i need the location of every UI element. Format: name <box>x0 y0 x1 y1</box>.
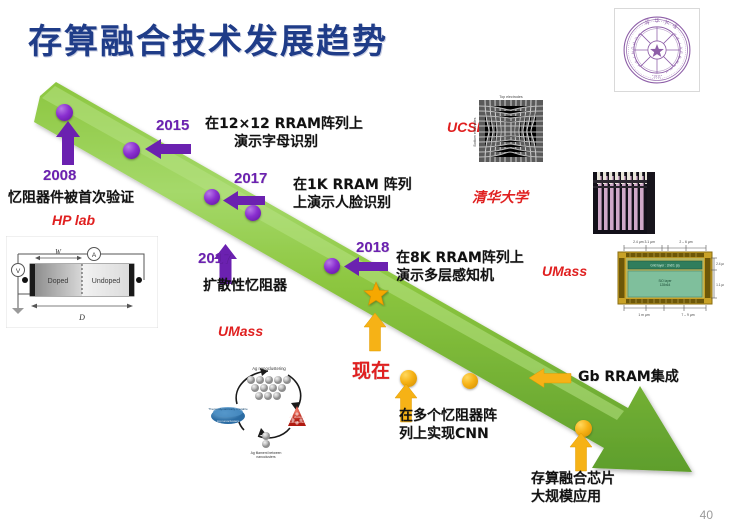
milestone-desc-mass-line2: 大规模应用 <box>531 489 601 506</box>
svg-text:2 – 6 µm: 2 – 6 µm <box>679 240 692 244</box>
svg-text:I: I <box>632 56 636 58</box>
svg-text:128x64: 128x64 <box>660 283 671 287</box>
pointer-arrow-left-2015 <box>144 138 192 160</box>
milestone-desc-2015-line1: 在12×12 RRAM阵列上 <box>205 116 363 133</box>
timeline-node-2018[interactable] <box>324 258 340 274</box>
svg-text:1.1 µm: 1.1 µm <box>716 283 724 287</box>
umass-label-right: Ag clusters <box>289 415 305 419</box>
ucsb-sem-crossbar: Top electrodes Bottom electrodes <box>471 92 549 170</box>
pointer-arrow-up-mass-application <box>569 432 593 472</box>
svg-text:E: E <box>679 51 683 54</box>
svg-text:R: R <box>677 56 682 60</box>
svg-text:Ag nanoclusters: Ag nanoclusters <box>217 419 240 423</box>
page-number: 40 <box>700 508 713 522</box>
milestone-year-2015: 2015 <box>156 117 189 134</box>
hp-label-d: D <box>78 313 85 322</box>
hp-label-v: V <box>16 268 21 275</box>
svg-text:2.4 µm 3.1 µm: 2.4 µm 3.1 µm <box>633 240 655 244</box>
pointer-arrow-up-2008 <box>55 120 81 166</box>
umass-label-left: Thermodynamically unstable <box>208 407 248 411</box>
svg-text:Grid layer : 2nd/1 (a): Grid layer : 2nd/1 (a) <box>650 264 679 268</box>
milestone-desc-2017a-line1: 在1K RRAM 阵列 <box>293 177 412 194</box>
milestone-desc-2017a-line2: 上演示人脸识别 <box>293 195 391 212</box>
milestone-desc-mass-line1: 存算融合芯片 <box>531 471 615 488</box>
svg-text:1 m µm: 1 m µm <box>638 313 650 317</box>
milestone-desc-2015-line2: 演示字母识别 <box>234 134 318 151</box>
hp-label-undoped: Undoped <box>92 278 121 285</box>
milestone-desc-gb-rram: Gb RRAM集成 <box>578 369 679 386</box>
page-title: 存算融合技术发展趋势 <box>28 14 388 63</box>
svg-text:V: V <box>679 47 683 50</box>
pointer-arrow-left-2018 <box>343 256 389 277</box>
hp-label-a: A <box>92 252 97 259</box>
timeline-node-2015[interactable] <box>123 142 140 159</box>
thu-rram-crossbar-chip <box>593 172 655 234</box>
umass-chip-cross-section: 2.4 µm 3.1 µm 2 – 6 µm Grid <box>606 236 724 318</box>
svg-text:2.4 µm: 2.4 µm <box>716 262 724 266</box>
milestone-lab-umass-diffusive: UMass <box>218 323 263 339</box>
svg-text:nanoclusters: nanoclusters <box>256 455 276 459</box>
timeline-node-gb-rram[interactable] <box>462 373 478 389</box>
hp-label-doped: Doped <box>48 278 69 285</box>
svg-text:大: 大 <box>664 19 669 26</box>
pointer-arrow-left-gb-rram <box>528 367 572 389</box>
milestone-desc-2018-line1: 在8K RRAM阵列上 <box>396 250 524 267</box>
milestone-year-2018: 2018 <box>356 239 389 256</box>
slide-canvas: 存算融合技术发展趋势 T S I <box>0 0 729 530</box>
milestone-desc-cnn-line2: 列上实现CNN <box>399 426 489 443</box>
svg-text:H: H <box>632 41 637 45</box>
umass-label-top: Ag nanoclustering <box>252 366 286 371</box>
milestone-label-now: 现在 <box>352 356 390 383</box>
milestone-year-2017b: 2017 <box>198 250 231 267</box>
milestone-desc-2008: 忆阻器件被首次验证 <box>8 190 134 207</box>
svg-text:清: 清 <box>645 19 650 26</box>
svg-text:N: N <box>631 51 635 54</box>
milestone-year-2017a: 2017 <box>234 170 267 187</box>
svg-text:7 – 9 µm: 7 – 9 µm <box>681 313 694 317</box>
milestone-desc-2017b: 扩散性忆阻器 <box>203 278 287 295</box>
svg-text:G: G <box>631 46 635 49</box>
hp-memristor-schematic: V A Doped Undoped W D <box>6 236 158 328</box>
svg-text:学: 学 <box>673 23 678 30</box>
timeline-node-2017a[interactable] <box>204 189 220 205</box>
svg-text:华: 华 <box>655 17 660 24</box>
milestone-desc-2018-line2: 演示多层感知机 <box>396 268 494 285</box>
svg-text:redistribution: redistribution <box>288 420 306 424</box>
timeline-node-2008[interactable] <box>56 104 73 121</box>
milestone-lab-umass-8k: UMass <box>542 263 587 279</box>
timeline-node-now-star[interactable] <box>363 281 389 307</box>
milestone-lab-tsinghua: 清华大学 <box>472 187 528 207</box>
umass-ag-nanocluster-cycle: Ag nanoclustering Thermodynamically unst… <box>192 342 352 460</box>
ucsb-label-top: Top electrodes <box>499 95 523 99</box>
pointer-arrow-left-2017a <box>222 190 266 211</box>
milestone-lab-hp: HP lab <box>52 212 95 228</box>
ucsb-label-left: Bottom electrodes <box>473 117 477 146</box>
milestone-year-2008: 2008 <box>43 167 76 184</box>
milestone-desc-cnn-line1: 在多个忆阻器阵 <box>399 408 497 425</box>
pointer-arrow-up-now <box>363 312 387 352</box>
svg-text:I: I <box>673 65 677 68</box>
